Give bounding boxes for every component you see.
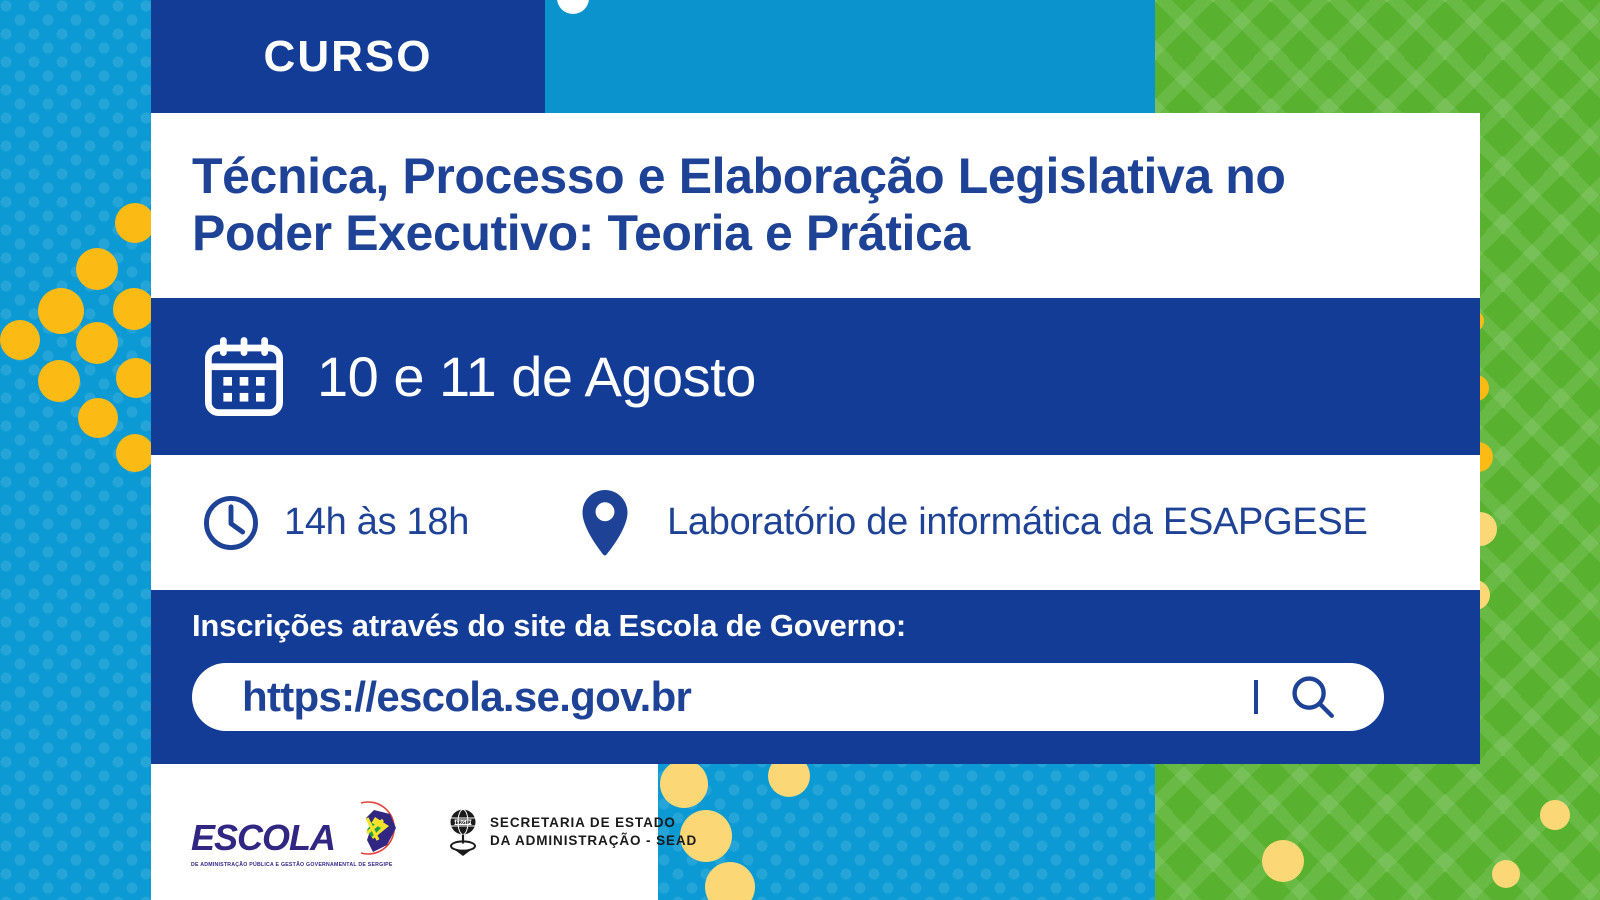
decorative-dot (76, 248, 118, 290)
badge-curso-label: CURSO (264, 32, 433, 82)
decorative-dot (76, 322, 118, 364)
text-cursor-icon (1254, 680, 1258, 714)
title-line-1: Técnica, Processo e Elaboração Legislati… (192, 148, 1392, 205)
decorative-dot (38, 288, 84, 334)
clock-icon (200, 492, 262, 554)
decorative-dot (116, 434, 154, 472)
info-item-time: 14h às 18h (200, 492, 469, 554)
background-cyan-top-strip (545, 0, 1165, 113)
decorative-dot (113, 288, 155, 330)
logo-escola-wordmark: ESCOLA (191, 817, 335, 859)
decorative-dot (0, 320, 40, 360)
calendar-icon (199, 332, 289, 422)
registration-url[interactable]: https://escola.se.gov.br (242, 673, 691, 721)
logo-strip: ESCOLA DE ADMINISTRAÇÃO PÚBLICA E GESTÃO… (151, 764, 658, 900)
decorative-dot (78, 398, 118, 438)
logo-escola: ESCOLA DE ADMINISTRAÇÃO PÚBLICA E GESTÃO… (191, 797, 405, 868)
info-location-label: Laboratório de informática da ESAPGESE (667, 501, 1367, 544)
decorative-dot (1262, 840, 1304, 882)
page-title: Técnica, Processo e Elaboração Legislati… (192, 148, 1392, 261)
logo-escola-subtitle: DE ADMINISTRAÇÃO PÚBLICA E GESTÃO GOVERN… (191, 862, 405, 868)
svg-text:SERGIPE: SERGIPE (453, 820, 474, 826)
logo-sead: SERGIPE SECRETARIA DE ESTADO DA ADMINIST… (443, 806, 697, 858)
info-row: 14h às 18h Laboratório de informática da… (151, 455, 1480, 590)
url-search-bar[interactable]: https://escola.se.gov.br (192, 663, 1384, 731)
sead-line-2: DA ADMINISTRAÇÃO - SEAD (490, 832, 697, 850)
decorative-dot (115, 203, 155, 243)
search-icon[interactable] (1288, 672, 1338, 722)
poster-canvas: CURSO Técnica, Processo e Elaboração Leg… (0, 0, 1600, 900)
registration-band: Inscrições através do site da Escola de … (151, 590, 1480, 764)
escola-emblem-icon (331, 797, 405, 859)
info-time-label: 14h às 18h (284, 501, 469, 544)
decorative-dot (38, 360, 80, 402)
sead-line-1: SECRETARIA DE ESTADO (490, 814, 697, 832)
badge-curso: CURSO (151, 0, 545, 113)
title-line-2: Poder Executivo: Teoria e Prática (192, 205, 1392, 262)
decorative-dot (1540, 800, 1570, 830)
info-item-location: Laboratório de informática da ESAPGESE (577, 487, 1367, 559)
sead-coat-of-arms-icon: SERGIPE (443, 806, 483, 858)
decorative-dot (116, 358, 156, 398)
decorative-dot (1492, 860, 1520, 888)
date-band: 10 e 11 de Agosto (151, 298, 1480, 455)
map-pin-icon (577, 487, 633, 559)
date-text: 10 e 11 de Agosto (317, 344, 756, 409)
decorative-dot (660, 760, 708, 808)
registration-label: Inscrições através do site da Escola de … (192, 608, 906, 644)
